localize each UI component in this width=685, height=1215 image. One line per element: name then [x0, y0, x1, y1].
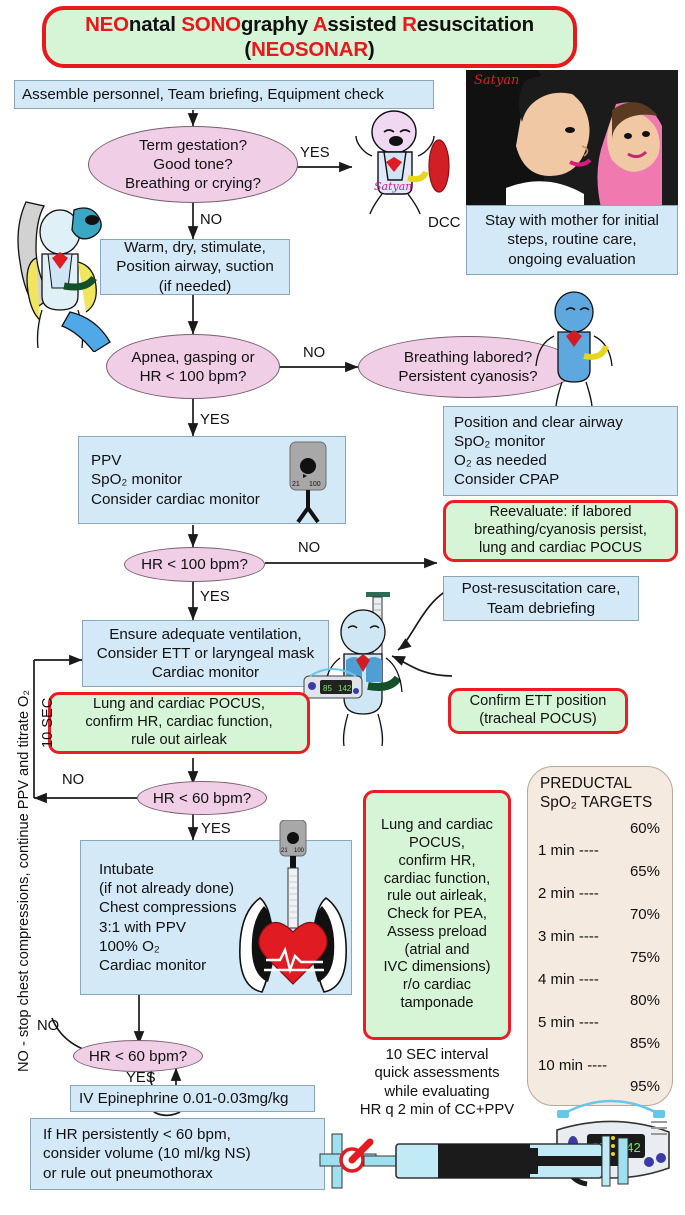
step-assemble-personnel: Assemble personnel, Team briefing, Equip… [14, 80, 434, 109]
svg-text:142: 142 [338, 684, 352, 693]
edge-label-yes-2: YES [200, 412, 230, 428]
spo2-target-value: 85% [630, 1036, 660, 1052]
step-stay-with-mother: Stay with mother for initial steps, rout… [466, 205, 678, 275]
illustration-cyanotic-newborn [528, 288, 624, 410]
illustration-intubated-newborn-with-probe: 85 142 [300, 588, 428, 748]
illustration-mother-and-baby: Satyan [466, 70, 678, 212]
title-line-1: NEOnatal SONOgraphy Assisted Resuscitati… [85, 12, 534, 37]
step-position-clear-airway: Position and clear airway SpO₂ monitor O… [443, 406, 678, 496]
step-persistent-bradycardia: If HR persistently < 60 bpm, consider vo… [30, 1118, 325, 1190]
spo2-time-label: 4 min ---- [538, 972, 599, 988]
note-lung-cardiac-pocus: Lung and cardiac POCUS, confirm HR, card… [48, 692, 310, 754]
svg-text:85: 85 [323, 684, 332, 693]
note-pocus-detailed: Lung and cardiac POCUS, confirm HR, card… [363, 790, 511, 1040]
edge-label-yes-4: YES [201, 821, 231, 837]
title-line-2: (NEOSONAR) [85, 37, 534, 62]
step-iv-epinephrine: IV Epinephrine 0.01-0.03mg/kg [70, 1085, 315, 1112]
spo2-time-label: 5 min ---- [538, 1015, 599, 1031]
step-ensure-ventilation: Ensure adequate ventilation, Consider ET… [82, 620, 329, 687]
decision-term-gestation: Term gestation? Good tone? Breathing or … [88, 126, 298, 203]
monitor-value-left: 21 [292, 481, 300, 488]
spo2-target-value: 60% [630, 821, 660, 837]
edge-label-no-4: NO [62, 772, 84, 788]
illustration-drying-newborn [8, 192, 116, 352]
decision-hr-under-60-first: HR < 60 bpm? [137, 781, 267, 815]
spo2-time-label: 3 min ---- [538, 929, 599, 945]
label-dcc: DCC [428, 214, 461, 231]
step-warm-dry-stimulate: Warm, dry, stimulate, Position airway, s… [100, 239, 290, 295]
edge-label-no-5: NO [37, 1018, 59, 1034]
monitor-value-right: 100 [309, 481, 321, 488]
spo2-time-label: 10 min ---- [538, 1058, 607, 1074]
page-title: NEOnatal SONOgraphy Assisted Resuscitati… [42, 6, 577, 68]
decision-hr-under-100: HR < 100 bpm? [124, 547, 265, 582]
spo2-target-value: 95% [630, 1079, 660, 1095]
spo2-target-value: 75% [630, 950, 660, 966]
decision-hr-under-60-second: HR < 60 bpm? [73, 1040, 203, 1072]
edge-label-yes-3: YES [200, 589, 230, 605]
edge-label-no-3: NO [298, 540, 320, 556]
edge-label-no-1: NO [200, 212, 222, 228]
spo2-target-value: 80% [630, 993, 660, 1009]
illustration-spo2-monitor-stand: 21 100 [278, 440, 340, 526]
decision-apnea-gasping: Apnea, gasping or HR < 100 bpm? [106, 334, 280, 399]
step-post-resuscitation-care: Post-resuscitation care, Team debriefing [443, 576, 639, 621]
edge-label-yes-1: YES [300, 145, 330, 161]
label-left-vertical-no: NO - stop chest compressions, continue P… [16, 690, 32, 1072]
label-10-sec: 10 SEC [40, 698, 56, 748]
spo2-time-label: 2 min ---- [538, 886, 599, 902]
spo2-target-value: 70% [630, 907, 660, 923]
note-confirm-ett-position: Confirm ETT position (tracheal POCUS) [448, 688, 628, 734]
spo2-time-label: 1 min ---- [538, 843, 599, 859]
illustration-syringe-stopcock [318, 1122, 648, 1200]
illustration-crying-newborn-dcc: Satyan [338, 108, 458, 218]
note-reevaluate-pocus: Reevaluate: if labored breathing/cyanosi… [443, 500, 678, 562]
svg-text:Satyan: Satyan [374, 180, 412, 193]
edge-label-yes-5: YES [126, 1070, 156, 1086]
edge-label-no-2: NO [303, 345, 325, 361]
assemble-text: Assemble personnel, Team briefing, Equip… [22, 85, 384, 104]
svg-text:100: 100 [294, 848, 305, 854]
illustration-lungs-heart-ett: 21 100 [230, 820, 362, 995]
note-10-sec-interval: 10 SEC interval quick assessments while … [356, 1046, 518, 1120]
svg-text:Satyan: Satyan [474, 73, 519, 88]
spo2-target-value: 65% [630, 864, 660, 880]
panel-preductal-spo2-targets: PREDUCTAL SpO₂ TARGETS 60%1 min ----65%2… [527, 766, 673, 1106]
spo2-panel-header: PREDUCTAL SpO₂ TARGETS [540, 775, 652, 813]
svg-text:21: 21 [281, 848, 288, 854]
